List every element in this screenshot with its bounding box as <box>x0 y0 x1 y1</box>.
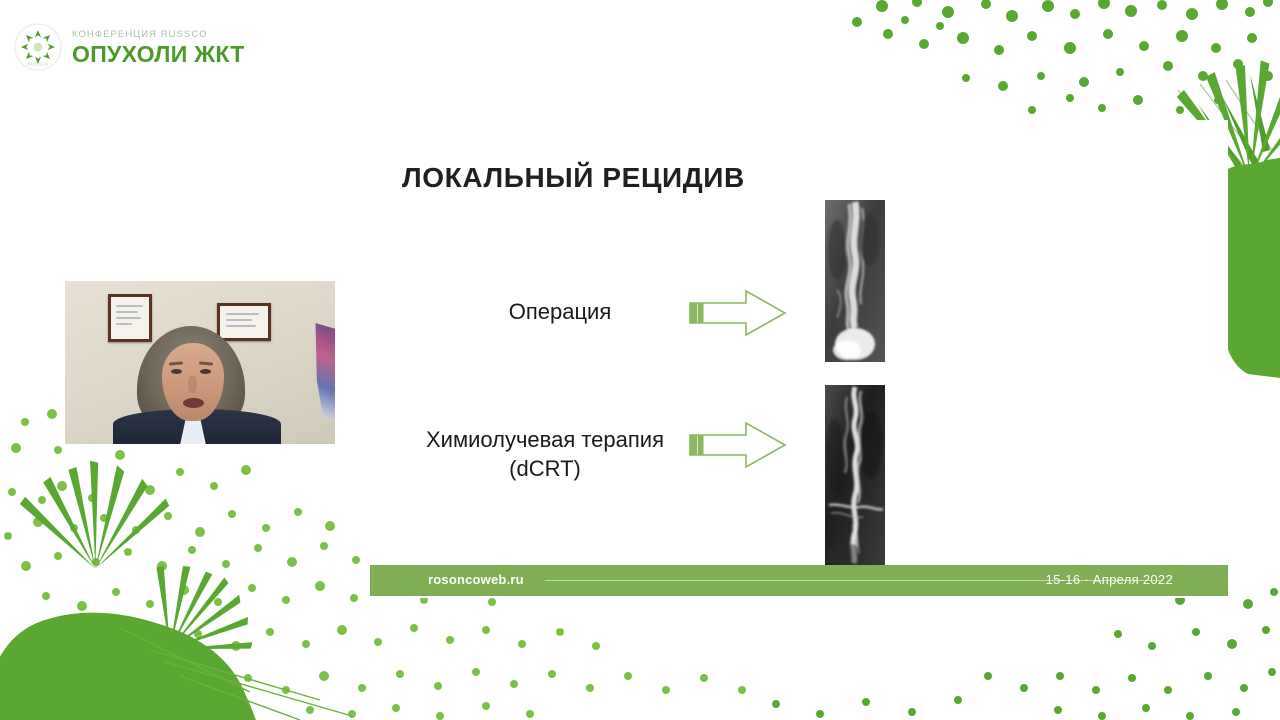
slide-title: ЛОКАЛЬНЫЙ РЕЦИДИВ <box>402 162 745 194</box>
russco-logo: RUSSCO КОНФЕРЕНЦИЯ RUSSCO ОПУХОЛИ ЖКТ <box>14 18 264 76</box>
row-label-chemoradiation: Химиолучевая терапия (dCRT) <box>375 426 715 483</box>
wall-certificate-frame-right <box>217 303 271 341</box>
wall-certificate-frame-left <box>108 294 152 342</box>
right-block-arrow-icon <box>688 420 788 470</box>
presentation-slide: ЛОКАЛЬНЫЙ РЕЦИДИВ Операция <box>370 120 1228 598</box>
splatter-spikes-bottom-left <box>120 628 352 720</box>
splatter-bottom-left <box>0 461 275 720</box>
russco-burst-icon: RUSSCO <box>14 23 62 71</box>
right-block-arrow-icon <box>688 288 788 338</box>
xray-image-post-dcrt <box>825 385 885 565</box>
row-label-operation: Операция <box>410 298 710 327</box>
dot-field-top-right <box>852 0 1273 114</box>
speaker-face <box>162 343 224 421</box>
row-label-line2: (dCRT) <box>509 456 581 481</box>
logo-subtitle: КОНФЕРЕНЦИЯ RUSSCO <box>72 30 245 40</box>
svg-text:RUSSCO: RUSSCO <box>28 62 49 67</box>
footer-website[interactable]: rosoncoweb.ru <box>428 572 524 587</box>
logo-title: ОПУХОЛИ ЖКТ <box>72 43 245 66</box>
row-label-line1: Химиолучевая терапия <box>426 427 664 452</box>
footer-date: 15-16 · Апреля 2022 <box>1046 572 1173 587</box>
speaker-video-tile[interactable] <box>65 281 335 444</box>
xray-image-post-surgery <box>825 200 885 362</box>
dot-field-bottom-right <box>772 586 1278 720</box>
slide-footer-bar: rosoncoweb.ru 15-16 · Апреля 2022 <box>370 565 1228 596</box>
